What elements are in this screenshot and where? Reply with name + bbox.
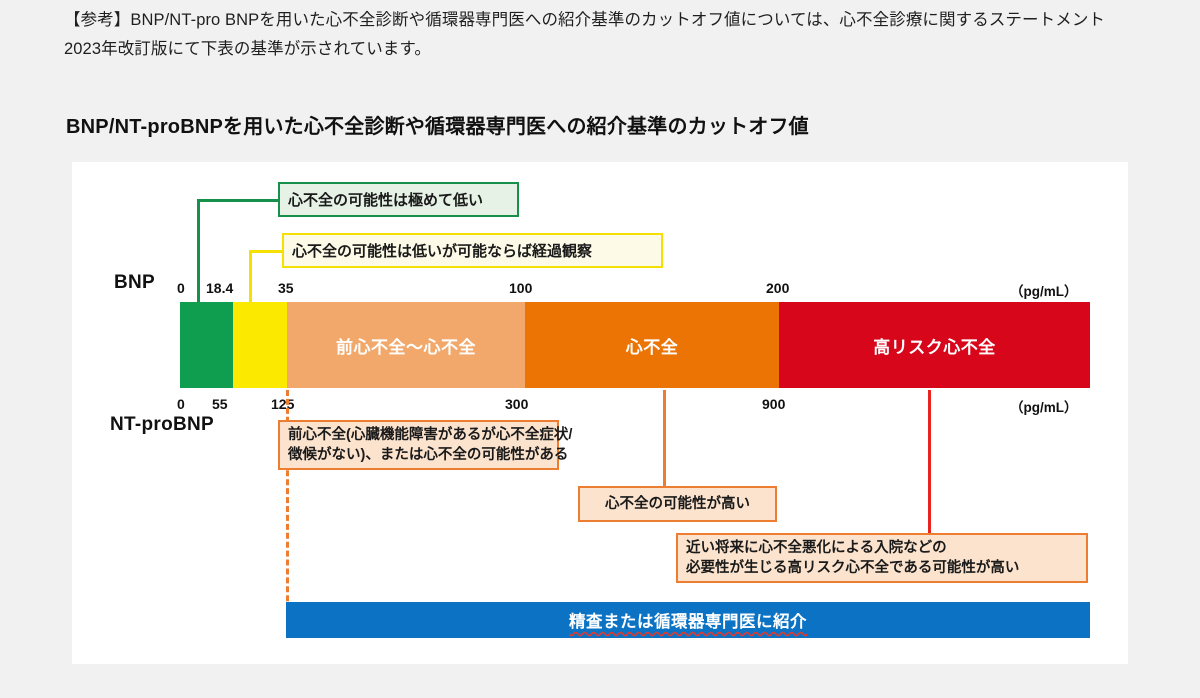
callout-pre-heart-failure-line2: 徴候がない)、または心不全の可能性がある <box>288 445 568 465</box>
spectrum-segment-pre-hf-label: 前心不全～心不全 <box>336 333 476 358</box>
bnp-tick-35: 35 <box>278 280 294 296</box>
yellow-connector-horizontal <box>249 250 283 253</box>
bnp-tick-100: 100 <box>509 280 532 296</box>
ntprobnp-tick-300: 300 <box>505 396 528 412</box>
ntprobnp-tick-125: 125 <box>271 396 294 412</box>
callout-low-probability-followup-text: 心不全の可能性は低いが可能ならば経過観察 <box>292 240 592 261</box>
spectrum-segment-pre-hf: 前心不全～心不全 <box>287 302 525 388</box>
bnp-unit-label: （pg/mL） <box>1010 280 1078 300</box>
callout-very-low-probability-text: 心不全の可能性は極めて低い <box>288 189 483 210</box>
callout-high-risk-hf: 近い将来に心不全悪化による入院などの 必要性が生じる高リスク心不全である可能性が… <box>676 533 1088 583</box>
hf-likely-connector <box>663 390 666 486</box>
spectrum-segment-hf-label: 心不全 <box>626 333 679 358</box>
callout-pre-heart-failure-line1: 前心不全(心臓機能障害があるが心不全症状/ <box>288 425 572 445</box>
yellow-connector-vertical <box>249 250 252 304</box>
callout-very-low-probability: 心不全の可能性は極めて低い <box>278 182 519 217</box>
callout-pre-heart-failure: 前心不全(心臓機能障害があるが心不全症状/ 徴候がない)、または心不全の可能性が… <box>278 420 559 470</box>
bnp-tick-200: 200 <box>766 280 789 296</box>
ntprobnp-tick-900: 900 <box>762 396 785 412</box>
axis-label-ntprobnp: NT-proBNP <box>110 414 214 436</box>
risk-spectrum-bar: 前心不全～心不全 心不全 高リスク心不全 <box>180 302 1090 388</box>
spectrum-segment-yellow <box>233 302 287 388</box>
intro-paragraph: 【参考】BNP/NT-pro BNPを用いた心不全診断や循環器専門医への紹介基準… <box>64 6 1128 64</box>
bnp-cutoff-diagram: 心不全の可能性は極めて低い 心不全の可能性は低いが可能ならば経過観察 BNP 0… <box>72 162 1128 664</box>
callout-high-risk-hf-line2: 必要性が生じる高リスク心不全である可能性が高い <box>686 558 1019 578</box>
referral-bar: 精査または循環器専門医に紹介 <box>286 602 1090 638</box>
ntprobnp-unit-label: （pg/mL） <box>1010 396 1078 416</box>
high-risk-connector <box>928 390 931 533</box>
bnp-tick-18-4: 18.4 <box>206 280 233 296</box>
spectrum-segment-high-risk-hf: 高リスク心不全 <box>779 302 1090 388</box>
spectrum-segment-high-risk-hf-label: 高リスク心不全 <box>873 333 996 358</box>
axis-label-bnp: BNP <box>114 272 155 294</box>
figure-panel: 心不全の可能性は極めて低い 心不全の可能性は低いが可能ならば経過観察 BNP 0… <box>72 162 1128 664</box>
ntprobnp-tick-55: 55 <box>212 396 228 412</box>
callout-hf-likely: 心不全の可能性が高い <box>578 486 777 522</box>
spectrum-segment-green <box>180 302 233 388</box>
green-connector-vertical <box>197 199 200 304</box>
bnp-tick-0: 0 <box>177 280 185 296</box>
page-title: BNP/NT-proBNPを用いた心不全診断や循環器専門医への紹介基準のカットオ… <box>66 110 809 139</box>
ntprobnp-tick-0: 0 <box>177 396 185 412</box>
callout-low-probability-followup: 心不全の可能性は低いが可能ならば経過観察 <box>282 233 663 268</box>
referral-bar-text: 精査または循環器専門医に紹介 <box>569 608 807 632</box>
green-connector-horizontal <box>197 199 279 202</box>
callout-high-risk-hf-line1: 近い将来に心不全悪化による入院などの <box>686 538 947 558</box>
spectrum-segment-hf: 心不全 <box>525 302 779 388</box>
callout-hf-likely-text: 心不全の可能性が高い <box>605 494 750 514</box>
